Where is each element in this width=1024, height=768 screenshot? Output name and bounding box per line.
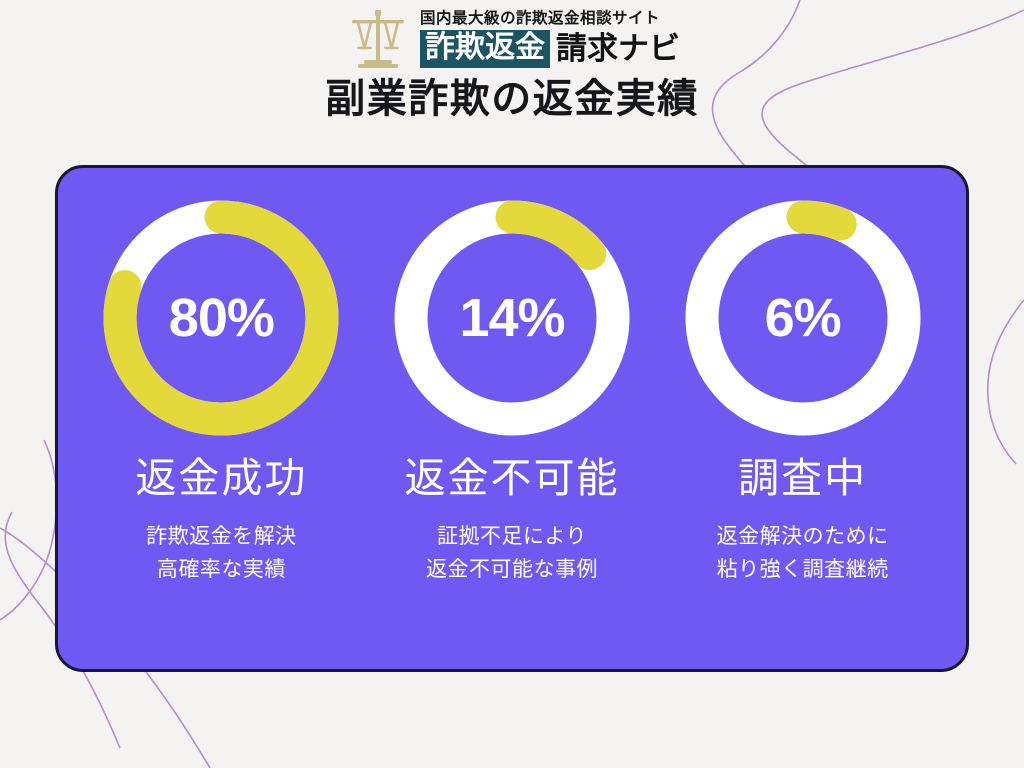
donut-percent-refund-impossible: 14% [390, 196, 634, 440]
stat-description-refund-impossible: 証拠不足により 返金不可能な事例 [426, 521, 598, 586]
stat-label-refund-success: 返金成功 [135, 456, 307, 501]
donut-chart-refund-impossible: 14% [390, 196, 634, 440]
logo-brand-name: 請求ナビ [556, 33, 680, 64]
stat-column-refund-impossible: 14% 返金不可能 証拠不足により 返金不可能な事例 [367, 196, 658, 586]
stat-label-under-investigation: 調査中 [738, 456, 867, 501]
stat-column-under-investigation: 6% 調査中 返金解決のために 粘り強く調査継続 [657, 196, 948, 586]
stat-description-line: 返金不可能な事例 [426, 554, 598, 587]
donut-percent-under-investigation: 6% [681, 196, 925, 440]
stat-column-refund-success: 80% 返金成功 詐欺返金を解決 高確率な実績 [76, 196, 367, 586]
donut-percent-refund-success: 80% [99, 196, 343, 440]
logo-text-block: 国内最大級の詐欺返金相談サイト 詐欺返金 請求ナビ [420, 10, 680, 68]
page-title: 副業詐欺の返金実績 [325, 76, 699, 122]
site-logo[interactable]: 国内最大級の詐欺返金相談サイト 詐欺返金 請求ナビ [344, 8, 680, 70]
page-header: 国内最大級の詐欺返金相談サイト 詐欺返金 請求ナビ 副業詐欺の返金実績 [0, 8, 1024, 149]
stat-description-line: 詐欺返金を解決 [146, 521, 297, 554]
stat-label-refund-impossible: 返金不可能 [405, 456, 620, 501]
scales-of-justice-icon [344, 8, 412, 70]
stat-description-refund-success: 詐欺返金を解決 高確率な実績 [146, 521, 297, 586]
logo-brand-row: 詐欺返金 請求ナビ [420, 30, 680, 68]
stat-description-line: 証拠不足により [426, 521, 598, 554]
donut-chart-under-investigation: 6% [681, 196, 925, 440]
logo-tagline: 国内最大級の詐欺返金相談サイト [420, 10, 660, 28]
logo-brand-highlight: 詐欺返金 [420, 30, 550, 68]
stat-description-line: 高確率な実績 [146, 554, 297, 587]
stats-card: 80% 返金成功 詐欺返金を解決 高確率な実績 14% 返金不可能 証拠不足によ… [55, 165, 969, 672]
stat-description-line: 粘り強く調査継続 [717, 554, 889, 587]
stat-description-under-investigation: 返金解決のために 粘り強く調査継続 [717, 521, 889, 586]
donut-chart-refund-success: 80% [99, 196, 343, 440]
stat-description-line: 返金解決のために [717, 521, 889, 554]
